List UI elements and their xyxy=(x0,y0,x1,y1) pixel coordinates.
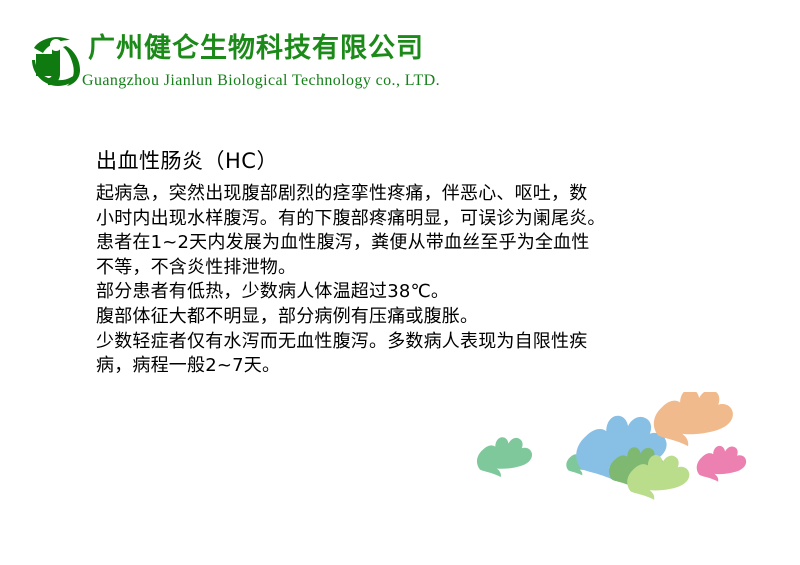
body-line: 腹部体征大都不明显，部分病例有压痛或腹胀。 xyxy=(96,305,676,330)
leaf-orange xyxy=(654,392,733,446)
slide-content: 出血性肠炎（HC） 起病急，突然出现腹部剧烈的痉挛性疼痛，伴恶心、呕吐，数 小时… xyxy=(96,146,676,379)
page-title: 出血性肠炎（HC） xyxy=(96,146,676,176)
body-line: 起病急，突然出现腹部剧烈的痉挛性疼痛，伴恶心、呕吐，数 xyxy=(96,182,676,207)
body-line: 患者在1~2天内发展为血性腹泻，粪便从带血丝至乎为全血性 xyxy=(96,231,676,256)
leaf-green-left xyxy=(477,437,532,477)
body-line: 少数轻症者仅有水泻而无血性腹泻。多数病人表现为自限性疾 xyxy=(96,330,676,355)
body-line: 不等，不含炎性排泄物。 xyxy=(96,256,676,281)
body-line: 部分患者有低热，少数病人体温超过38℃。 xyxy=(96,280,676,305)
body-paragraph: 起病急，突然出现腹部剧烈的痉挛性疼痛，伴恶心、呕吐，数 小时内出现水样腹泻。有的… xyxy=(96,182,676,379)
company-header: 广州健仑生物科技有限公司 Guangzhou Jianlun Biologica… xyxy=(30,32,450,98)
body-line: 病，病程一般2~7天。 xyxy=(96,354,676,379)
slide-page: 广州健仑生物科技有限公司 Guangzhou Jianlun Biologica… xyxy=(0,0,800,565)
company-name-cn: 广州健仑生物科技有限公司 xyxy=(88,32,424,66)
ginkgo-leaves-decoration xyxy=(455,392,775,502)
company-name-en: Guangzhou Jianlun Biological Technology … xyxy=(82,72,440,90)
leaf-pink xyxy=(697,446,746,482)
body-line: 小时内出现水样腹泻。有的下腹部疼痛明显，可误诊为阑尾炎。 xyxy=(96,207,676,232)
